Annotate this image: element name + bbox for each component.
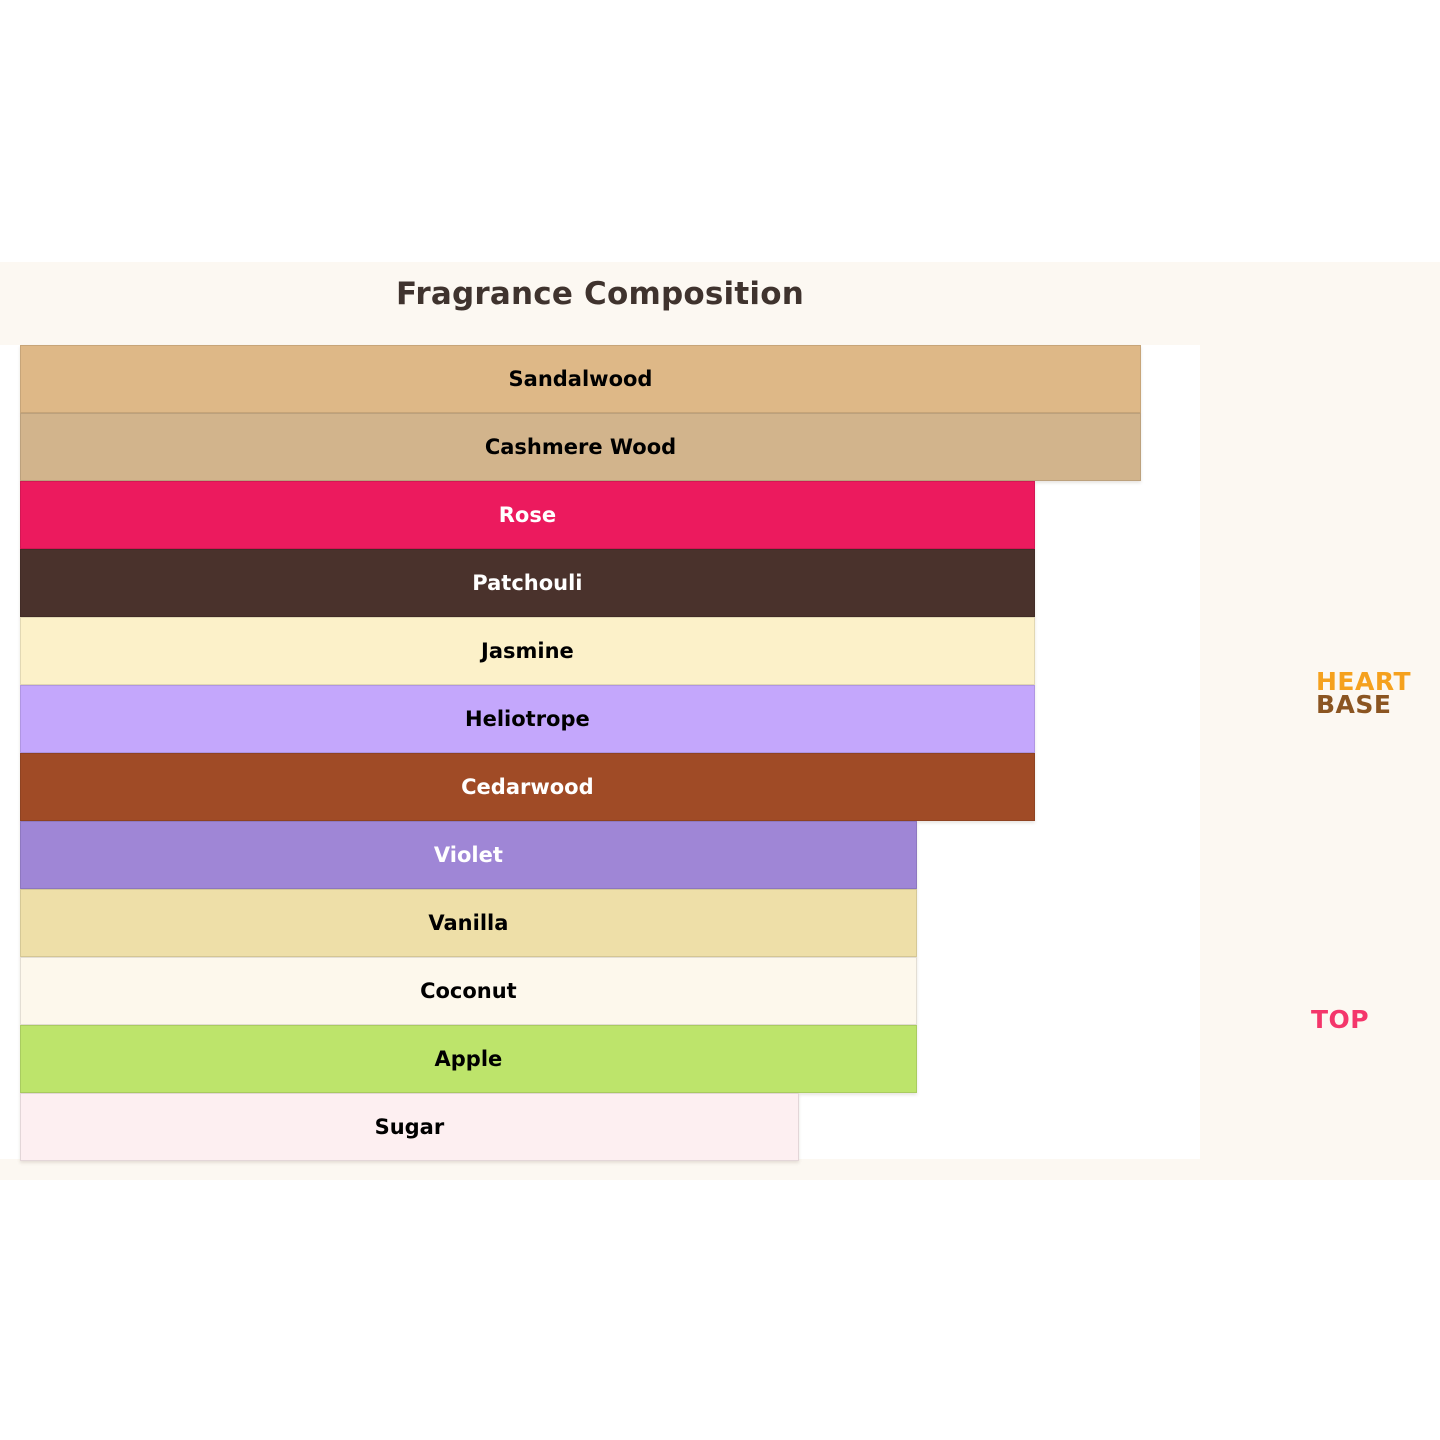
bar-rose[interactable] <box>20 481 1035 549</box>
bar-row: Apple <box>20 1025 1200 1093</box>
bar-violet[interactable] <box>20 821 917 889</box>
bar-row: Jasmine <box>20 617 1200 685</box>
bar-row: Sandalwood <box>20 345 1200 413</box>
stage-label-base: BASE <box>1316 690 1392 719</box>
bar-row: Patchouli <box>20 549 1200 617</box>
bar-row: Coconut <box>20 957 1200 1025</box>
bar-row: Rose <box>20 481 1200 549</box>
bar-row: Heliotrope <box>20 685 1200 753</box>
chart-title: Fragrance Composition <box>0 276 1200 312</box>
bar-row: Vanilla <box>20 889 1200 957</box>
bar-sandalwood[interactable] <box>20 345 1141 413</box>
bar-coconut[interactable] <box>20 957 917 1025</box>
bar-apple[interactable] <box>20 1025 917 1093</box>
bar-jasmine[interactable] <box>20 617 1035 685</box>
bar-patchouli[interactable] <box>20 549 1035 617</box>
bar-heliotrope[interactable] <box>20 685 1035 753</box>
chart-figure: Fragrance Composition SandalwoodCashmere… <box>0 262 1440 1180</box>
stage-label-top: TOP <box>1311 1005 1369 1034</box>
bar-cedarwood[interactable] <box>20 753 1035 821</box>
bar-row: Cashmere Wood <box>20 413 1200 481</box>
bar-cashmere-wood[interactable] <box>20 413 1141 481</box>
bar-row: Cedarwood <box>20 753 1200 821</box>
bar-vanilla[interactable] <box>20 889 917 957</box>
bar-row: Sugar <box>20 1093 1200 1161</box>
plot-area: SandalwoodCashmere WoodRosePatchouliJasm… <box>0 345 1200 1159</box>
bar-row: Violet <box>20 821 1200 889</box>
bar-sugar[interactable] <box>20 1093 799 1161</box>
